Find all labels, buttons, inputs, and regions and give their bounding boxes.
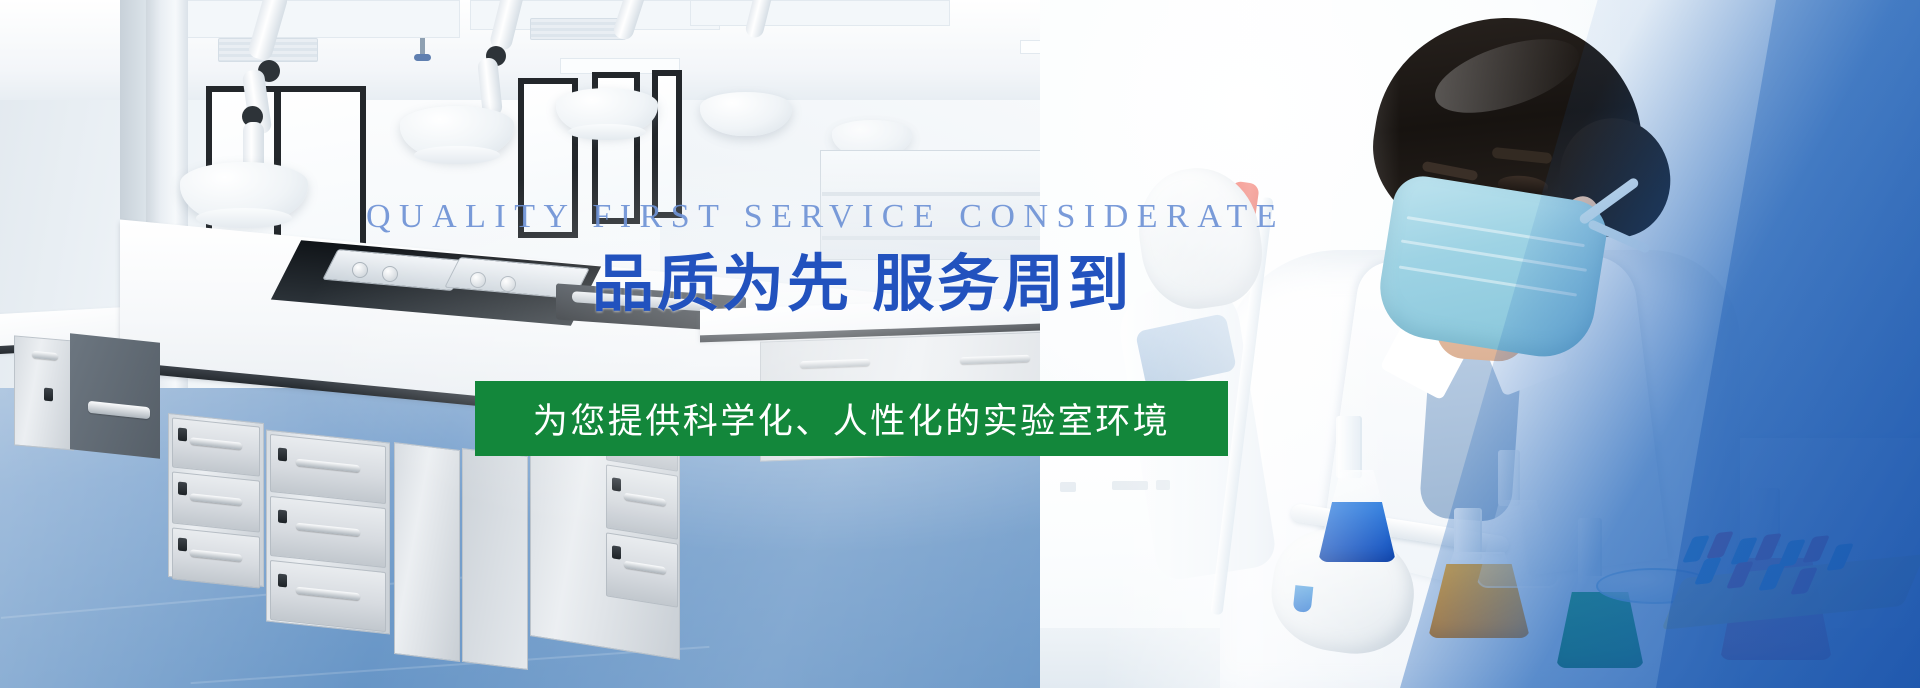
headline-english: QUALITY FIRST SERVICE CONSIDERATE xyxy=(366,200,1285,234)
subtitle-chinese: 为您提供科学化、人性化的实验室环境 xyxy=(533,393,1171,444)
banner-copy: QUALITY FIRST SERVICE CONSIDERATE 品质为先 服… xyxy=(0,0,1920,688)
hero-banner: QUALITY FIRST SERVICE CONSIDERATE 品质为先 服… xyxy=(0,0,1920,688)
subtitle-green-box: 为您提供科学化、人性化的实验室环境 xyxy=(475,381,1228,456)
headline-chinese: 品质为先 服务周到 xyxy=(592,251,1132,319)
